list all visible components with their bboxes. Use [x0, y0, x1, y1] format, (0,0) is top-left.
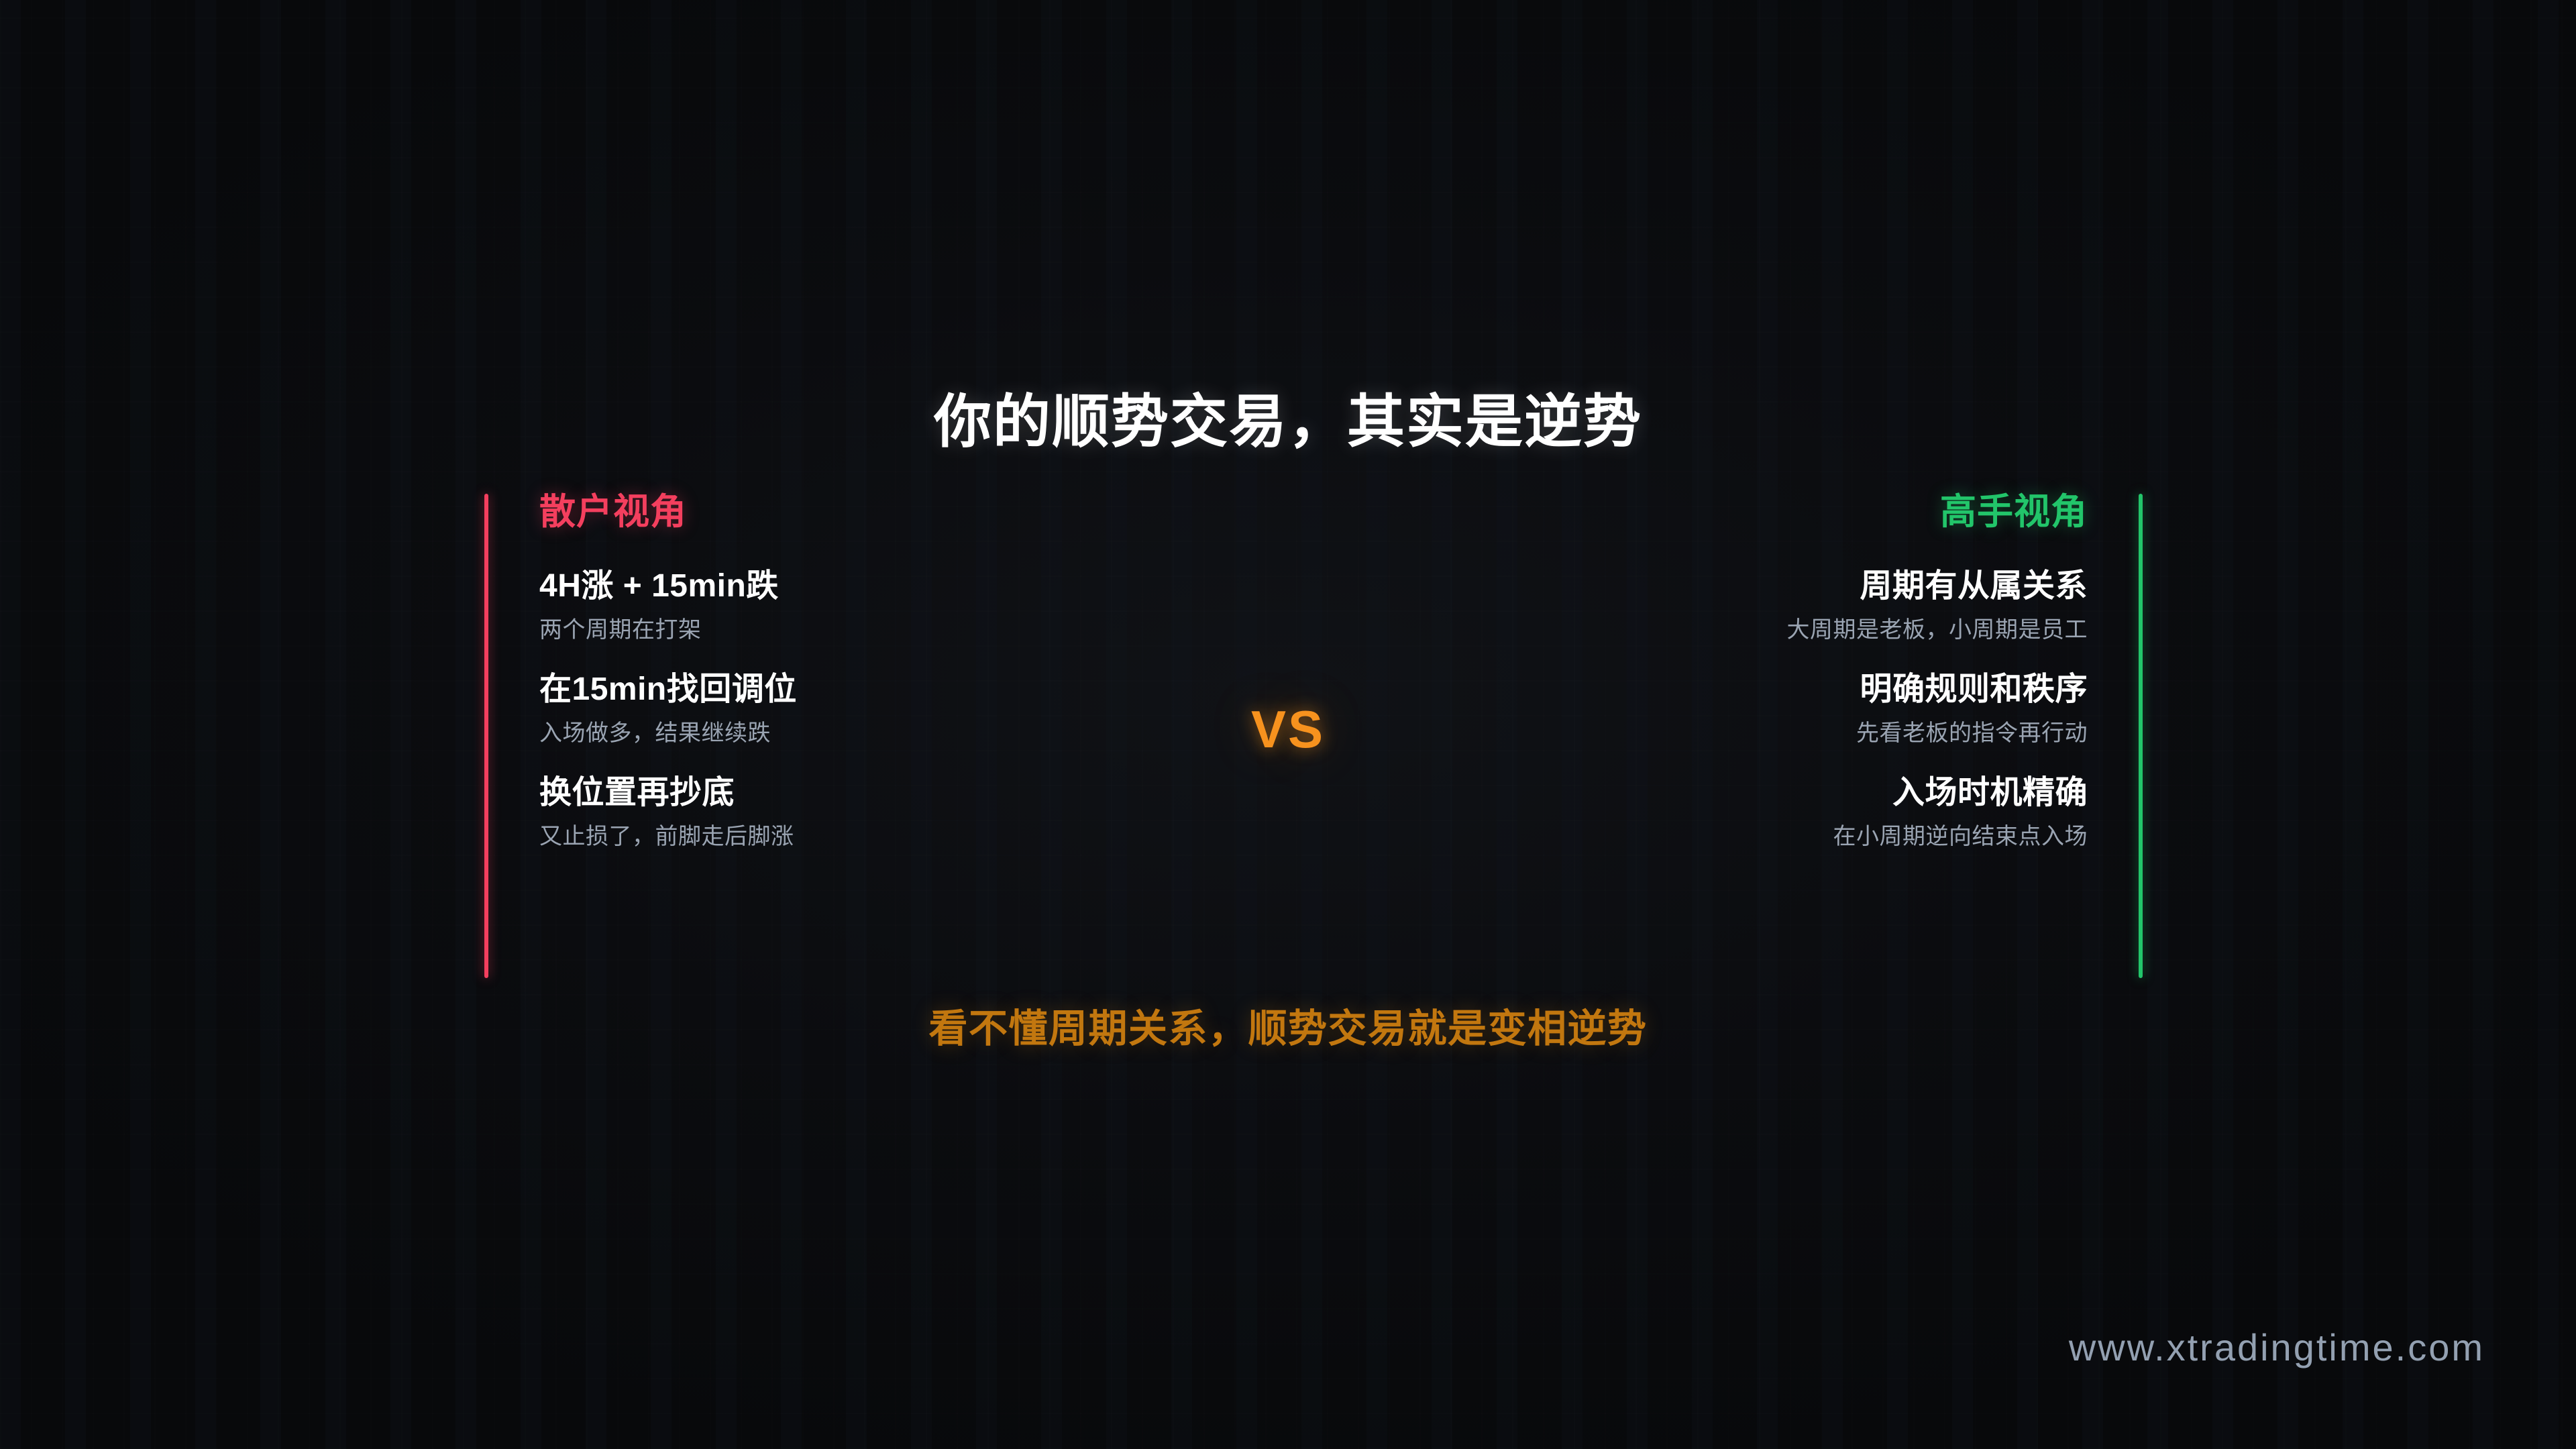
list-item-title: 换位置再抄底	[539, 774, 1264, 811]
retail-perspective-column: 散户视角 4H涨 + 15min跌 两个周期在打架 在15min找回调位 入场做…	[484, 494, 1264, 851]
list-item: 换位置再抄底 又止损了，前脚走后脚涨	[539, 774, 1264, 851]
right-column-header: 高手视角	[1363, 494, 2088, 530]
list-item-title: 4H涨 + 15min跌	[539, 568, 1264, 604]
list-item-subtitle: 大周期是老板，小周期是员工	[1363, 616, 2088, 644]
slide-canvas: 你的顺势交易，其实是逆势 散户视角 4H涨 + 15min跌 两个周期在打架 在…	[0, 0, 2576, 1449]
footer-website-url: www.xtradingtime.com	[2069, 1326, 2485, 1369]
list-item-title: 周期有从属关系	[1363, 568, 2088, 604]
left-column-header: 散户视角	[539, 494, 1264, 530]
list-item-subtitle: 在小周期逆向结束点入场	[1363, 823, 2088, 851]
list-item-title: 入场时机精确	[1363, 774, 2088, 811]
bottom-callout-text: 看不懂周期关系，顺势交易就是变相逆势	[0, 997, 2576, 1053]
list-item-subtitle: 又止损了，前脚走后脚涨	[539, 823, 1264, 851]
list-item-subtitle: 两个周期在打架	[539, 616, 1264, 644]
vs-badge: VS	[0, 699, 2576, 760]
expert-perspective-column: 高手视角 周期有从属关系 大周期是老板，小周期是员工 明确规则和秩序 先看老板的…	[1363, 494, 2143, 851]
list-item: 周期有从属关系 大周期是老板，小周期是员工	[1363, 568, 2088, 644]
list-item: 4H涨 + 15min跌 两个周期在打架	[539, 568, 1264, 644]
page-title: 你的顺势交易，其实是逆势	[0, 374, 2576, 458]
list-item: 入场时机精确 在小周期逆向结束点入场	[1363, 774, 2088, 851]
